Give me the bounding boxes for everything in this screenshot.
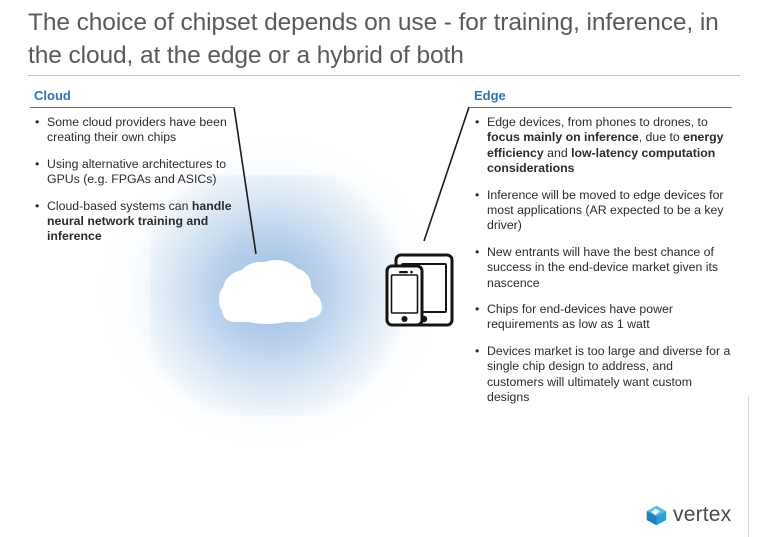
bullet-text: Inference will be moved to edge devices …: [487, 188, 724, 233]
bullet-marker: •: [475, 344, 479, 359]
column-heading-edge: Edge: [470, 88, 732, 104]
bullet-text: Chips for end-devices have power require…: [487, 302, 673, 331]
bullet-marker: •: [475, 245, 479, 260]
phone-tablet-icon: [387, 255, 452, 325]
column-edge: Edge • Edge devices, from phones to dron…: [470, 88, 732, 417]
bullet-list-edge: • Edge devices, from phones to drones, t…: [470, 115, 732, 406]
list-item: • Some cloud providers have been creatin…: [30, 115, 245, 146]
bullet-text: New entrants will have the best chance o…: [487, 245, 718, 290]
column-cloud: Cloud • Some cloud providers have been c…: [30, 88, 245, 256]
bullet-marker: •: [475, 115, 479, 130]
cloud-icon: [219, 260, 322, 324]
bullet-marker: •: [35, 157, 39, 172]
title-divider: [28, 75, 740, 76]
column-divider-cloud: [30, 107, 235, 108]
leader-line-edge: [424, 107, 469, 241]
bullet-marker: •: [35, 115, 39, 130]
right-edge-divider: [748, 396, 749, 537]
list-item: • Using alternative architectures to GPU…: [30, 157, 245, 188]
bullet-marker: •: [35, 199, 39, 214]
bullet-text: Edge devices, from phones to drones, to …: [487, 115, 723, 175]
bullet-text: Using alternative architectures to GPUs …: [47, 157, 226, 186]
slide: The choice of chipset depends on use - f…: [0, 0, 760, 537]
bullet-list-cloud: • Some cloud providers have been creatin…: [30, 115, 245, 245]
list-item: • Chips for end-devices have power requi…: [470, 302, 732, 333]
list-item: • Inference will be moved to edge device…: [470, 188, 732, 234]
list-item: • Edge devices, from phones to drones, t…: [470, 115, 732, 177]
bullet-text: Some cloud providers have been creating …: [47, 115, 227, 144]
page-title: The choice of chipset depends on use - f…: [28, 6, 740, 72]
column-heading-cloud: Cloud: [30, 88, 245, 104]
logo-text: vertex: [673, 503, 731, 527]
bullet-marker: •: [475, 188, 479, 203]
list-item: • New entrants will have the best chance…: [470, 245, 732, 291]
list-item: • Devices market is too large and divers…: [470, 344, 732, 406]
vertex-cube-icon: [646, 505, 667, 526]
bullet-text: Devices market is too large and diverse …: [487, 344, 730, 404]
bullet-marker: •: [475, 302, 479, 317]
vertex-logo: vertex: [646, 503, 731, 527]
column-divider-edge: [470, 107, 732, 108]
list-item: • Cloud-based systems can handle neural …: [30, 199, 245, 245]
bullet-text: Cloud-based systems can handle neural ne…: [47, 199, 232, 244]
